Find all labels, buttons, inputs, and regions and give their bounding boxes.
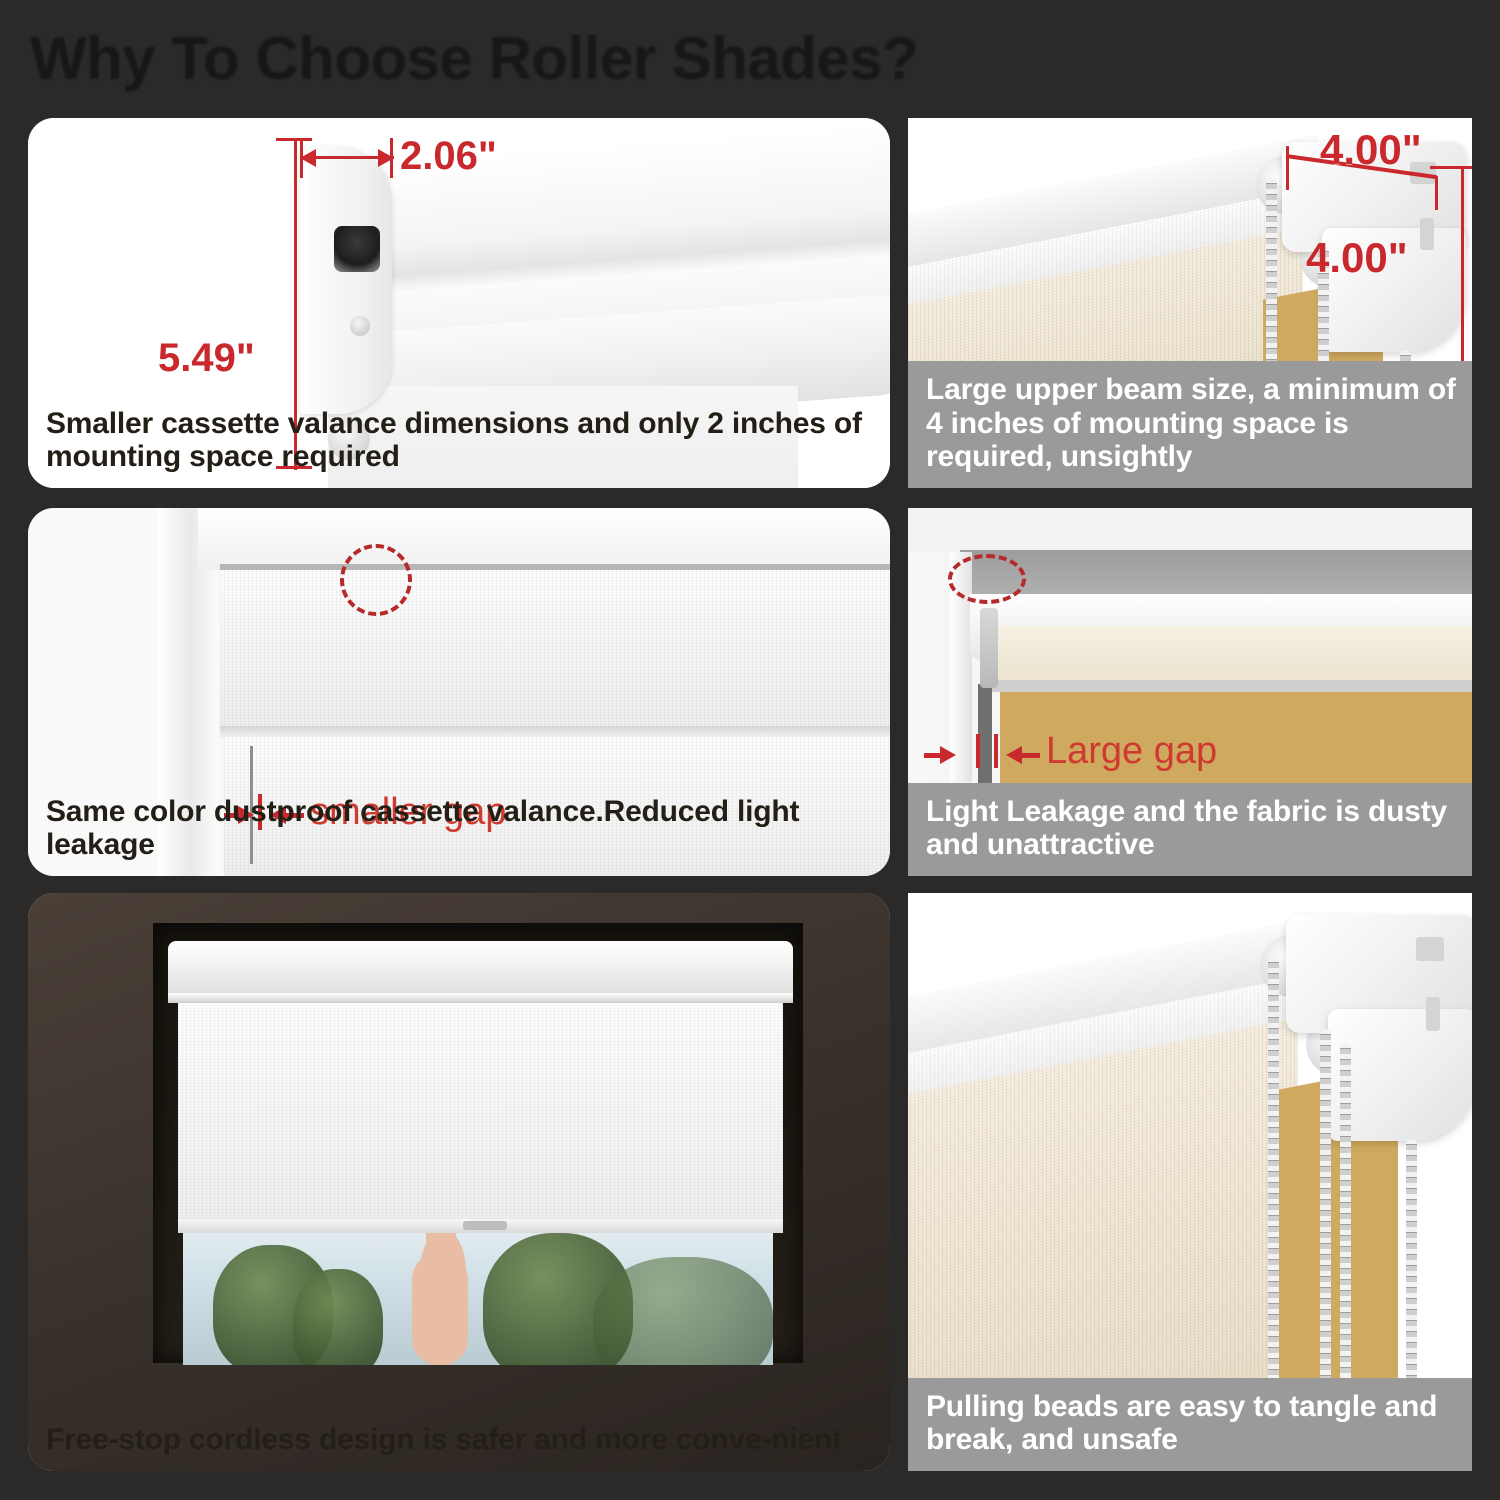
gap-marker-2 bbox=[994, 734, 998, 768]
panel-light-leakage: Large gap Light Leakage and the fabric i… bbox=[908, 508, 1472, 876]
tree-4 bbox=[593, 1257, 773, 1365]
beam-width-label: 4.00" bbox=[1320, 126, 1422, 174]
panel-1-caption: Smaller cassette valance dimensions and … bbox=[28, 395, 890, 488]
forearm bbox=[412, 1253, 468, 1365]
cassette-valance-face bbox=[220, 570, 890, 728]
height-dimension-label: 5.49" bbox=[158, 336, 255, 381]
panel-large-upper-beam: 4.00" 4.00" Large upper beam size, a min… bbox=[908, 118, 1472, 488]
panel-cordless-design: Free-stop cordless design is safer and m… bbox=[28, 893, 890, 1471]
window-head-trim bbox=[198, 508, 890, 570]
beam-width-tick-left bbox=[1286, 146, 1289, 190]
infographic-root: Why To Choose Roller Shades? 2.06" 5.49" bbox=[0, 0, 1500, 1500]
beam-height-dimension-line bbox=[1461, 166, 1464, 374]
panel-smaller-cassette: 2.06" 5.49" Smaller cassette valance dim… bbox=[28, 118, 890, 488]
panel-dustproof-cassette: smaller gap Same color dustproof cassett… bbox=[28, 508, 890, 876]
bracket-notch-1 bbox=[1416, 937, 1444, 961]
valance-end-cap bbox=[300, 146, 392, 414]
beam-height-label: 4.00" bbox=[1306, 234, 1408, 282]
gap-marker-1 bbox=[976, 734, 980, 768]
highlight-circle bbox=[948, 554, 1026, 604]
window-glass bbox=[183, 1223, 773, 1365]
cassette-bottom-lip bbox=[220, 726, 890, 738]
panel-pulling-beads: Pulling beads are easy to tangle and bre… bbox=[908, 893, 1472, 1471]
end-cap-screw-upper bbox=[350, 316, 370, 336]
width-arrow-right bbox=[378, 149, 394, 167]
gap-arrow-left bbox=[1006, 746, 1022, 764]
highlight-circle bbox=[340, 544, 412, 616]
fabric-shadow-line bbox=[988, 680, 1472, 692]
page-title-text: Why To Choose Roller Shades? bbox=[30, 18, 1230, 96]
bracket-notch-2 bbox=[1420, 218, 1434, 250]
cassette-lip bbox=[168, 993, 793, 1003]
width-dimension-label: 2.06" bbox=[400, 134, 497, 179]
end-cap-slot bbox=[334, 226, 380, 272]
roller-shade-fabric bbox=[178, 1003, 783, 1228]
panel-2-caption: Large upper beam size, a minimum of 4 in… bbox=[908, 361, 1472, 488]
gap-arrow-right bbox=[940, 746, 956, 764]
bracket-notch-2 bbox=[1426, 997, 1440, 1031]
panel-3-caption: Same color dustproof cassette valance.Re… bbox=[28, 783, 890, 876]
roller-bracket-clip bbox=[980, 608, 998, 688]
bottom-rail-grip bbox=[463, 1221, 507, 1230]
panel-6-caption: Pulling beads are easy to tangle and bre… bbox=[908, 1378, 1472, 1471]
panel-4-caption: Light Leakage and the fabric is dusty an… bbox=[908, 783, 1472, 876]
gap-arrow-stem-right bbox=[1022, 753, 1040, 758]
gap-shadow bbox=[978, 684, 992, 790]
panel-5-caption: Free-stop cordless design is safer and m… bbox=[28, 1411, 890, 1471]
beam-height-tick-top bbox=[1430, 166, 1472, 169]
tree-2 bbox=[293, 1269, 383, 1365]
beige-fabric-top bbox=[992, 626, 1472, 684]
large-gap-label: Large gap bbox=[1046, 730, 1217, 773]
panel-5-artwork bbox=[28, 893, 890, 1471]
beam-width-tick-right bbox=[1435, 176, 1438, 210]
width-arrow-left bbox=[300, 149, 316, 167]
ceiling-area bbox=[908, 508, 1472, 552]
page-title: Why To Choose Roller Shades? bbox=[30, 18, 1230, 96]
